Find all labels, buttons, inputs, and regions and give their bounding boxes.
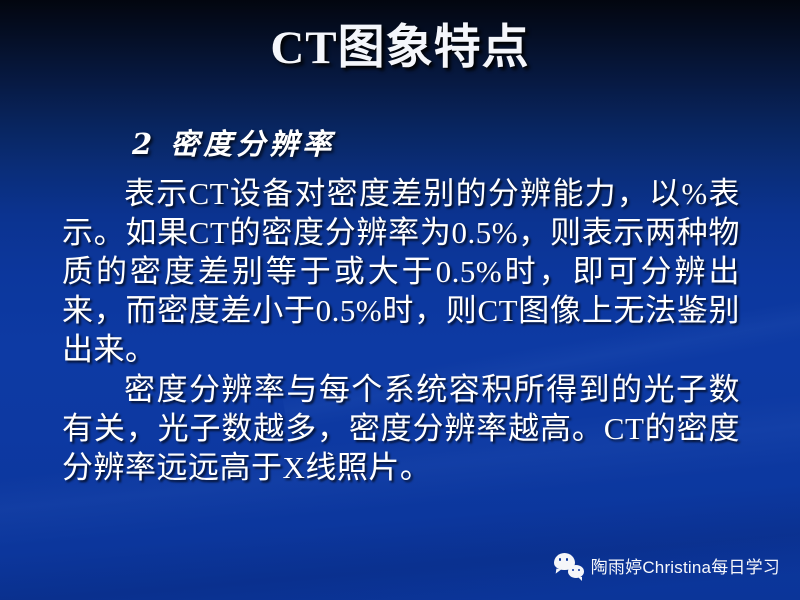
slide-body: 2 密度分辨率 表示CT设备对密度差别的分辨能力，以%表示。如果CT的密度分辨率… [40,124,760,487]
section-subheading: 2 密度分辨率 [40,124,760,164]
body-paragraph: 密度分辨率与每个系统容积所得到的光子数有关，光子数越多，密度分辨率越高。CT的密… [40,370,760,487]
wechat-icon [554,552,584,578]
watermark-label: 陶雨婷Christina每日学习 [591,553,780,578]
background-sheen-lower [0,471,800,600]
slide-title: CT图象特点 [0,18,800,78]
watermark: 陶雨婷Christina每日学习 [554,552,780,578]
body-paragraph: 表示CT设备对密度差别的分辨能力，以%表示。如果CT的密度分辨率为0.5%，则表… [40,174,760,369]
slide-canvas: CT图象特点 2 密度分辨率 表示CT设备对密度差别的分辨能力，以%表示。如果C… [0,0,800,600]
